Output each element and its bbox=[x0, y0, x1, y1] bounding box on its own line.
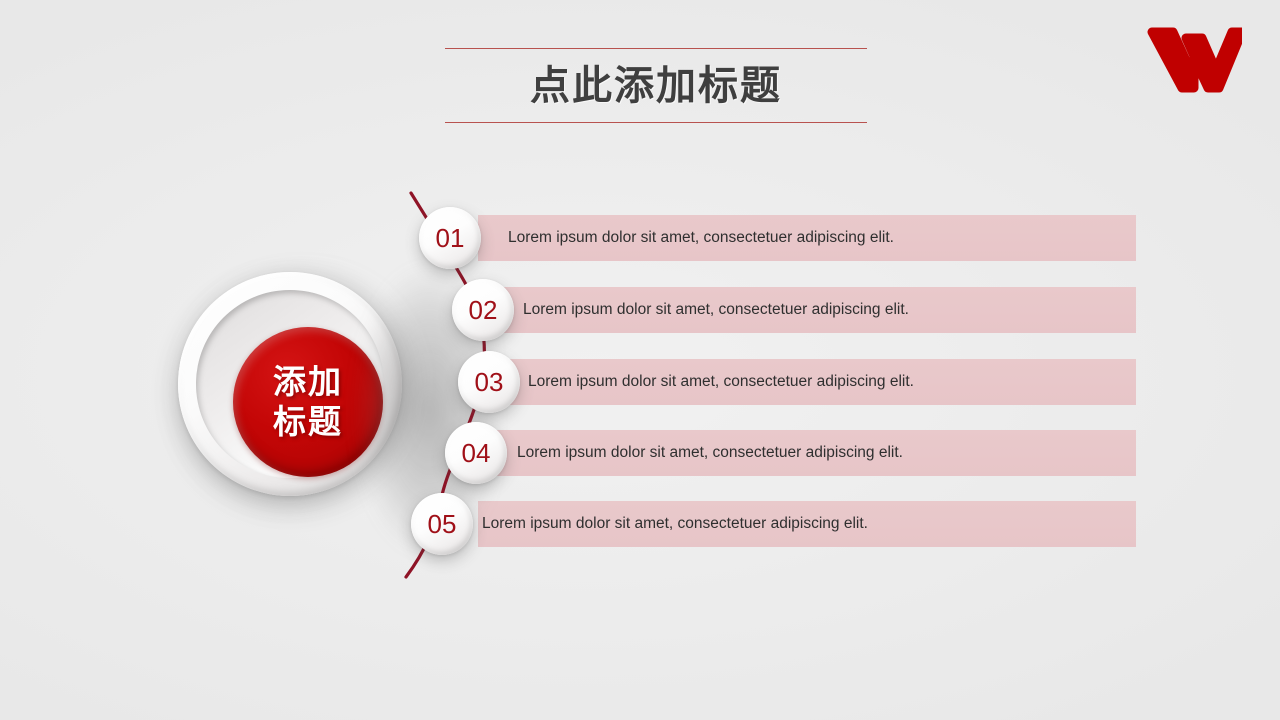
row-number: 05 bbox=[428, 509, 457, 540]
row-number: 02 bbox=[469, 295, 498, 326]
row-bar[interactable]: Lorem ipsum dolor sit amet, consectetuer… bbox=[478, 287, 1136, 333]
row-number-badge-01[interactable]: 01 bbox=[419, 207, 481, 269]
row-number: 01 bbox=[436, 223, 465, 254]
row-number-badge-05[interactable]: 05 bbox=[411, 493, 473, 555]
row-number: 03 bbox=[475, 367, 504, 398]
row-bar[interactable]: Lorem ipsum dolor sit amet, consectetuer… bbox=[478, 359, 1136, 405]
row-number: 04 bbox=[462, 438, 491, 469]
row-bar[interactable]: Lorem ipsum dolor sit amet, consectetuer… bbox=[478, 430, 1136, 476]
row-text: Lorem ipsum dolor sit amet, consectetuer… bbox=[517, 444, 903, 462]
row-text: Lorem ipsum dolor sit amet, consectetuer… bbox=[523, 301, 909, 319]
page-title: 点此添加标题 bbox=[445, 49, 867, 122]
row-text: Lorem ipsum dolor sit amet, consectetuer… bbox=[508, 229, 894, 247]
row-bar[interactable]: Lorem ipsum dolor sit amet, consectetuer… bbox=[478, 215, 1136, 261]
row-number-badge-04[interactable]: 04 bbox=[445, 422, 507, 484]
row-bar[interactable]: Lorem ipsum dolor sit amet, consectetuer… bbox=[478, 501, 1136, 547]
row-text: Lorem ipsum dolor sit amet, consectetuer… bbox=[528, 373, 914, 391]
row-number-badge-02[interactable]: 02 bbox=[452, 279, 514, 341]
title-rule-bottom bbox=[445, 122, 867, 123]
row-number-badge-03[interactable]: 03 bbox=[458, 351, 520, 413]
page-title-block: 点此添加标题 bbox=[445, 48, 867, 123]
wps-logo-icon bbox=[1146, 26, 1242, 94]
slide-canvas: 点此添加标题 添加 标题 Lorem ipsum dolor sit amet,… bbox=[0, 0, 1280, 720]
